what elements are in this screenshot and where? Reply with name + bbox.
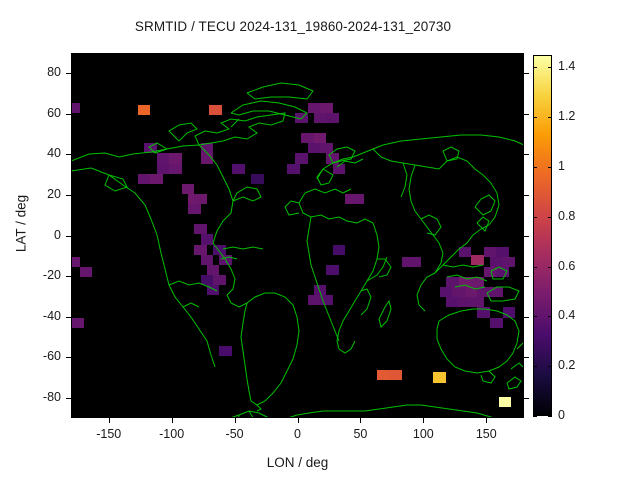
y-tick-label: -80	[17, 390, 61, 404]
x-tick-mark	[486, 53, 487, 58]
y-tick-mark	[66, 276, 71, 277]
y-tick-label: 80	[17, 65, 61, 79]
coastline-overlay	[71, 53, 524, 418]
colorbar-tick-label: 0.8	[558, 209, 575, 223]
y-tick-mark	[524, 73, 529, 74]
x-tick-mark	[109, 418, 110, 423]
colorbar-tick-mark	[533, 117, 537, 118]
y-tick-mark	[66, 236, 71, 237]
y-tick-mark	[66, 154, 71, 155]
y-tick-mark	[524, 114, 529, 115]
map-plot-area[interactable]	[71, 53, 524, 418]
y-tick-mark	[66, 114, 71, 115]
x-tick-mark	[172, 53, 173, 58]
colorbar-tick-label: 0.4	[558, 308, 575, 322]
x-tick-mark	[235, 418, 236, 423]
x-tick-mark	[423, 53, 424, 58]
x-tick-mark	[360, 418, 361, 423]
colorbar-tick-label: 0	[558, 408, 565, 422]
colorbar[interactable]	[533, 55, 552, 416]
colorbar-tick-mark	[548, 316, 552, 317]
figure-canvas: SRMTID / TECU 2024-131_19860-2024-131_20…	[0, 0, 640, 480]
colorbar-tick-mark	[548, 267, 552, 268]
x-tick-mark	[360, 53, 361, 58]
y-tick-mark	[524, 398, 529, 399]
x-tick-label: -100	[142, 427, 202, 441]
colorbar-tick-mark	[548, 416, 552, 417]
colorbar-tick-label: 1	[558, 159, 565, 173]
colorbar-tick-mark	[548, 67, 552, 68]
colorbar-tick-mark	[548, 167, 552, 168]
x-tick-mark	[172, 418, 173, 423]
y-tick-mark	[66, 398, 71, 399]
y-tick-mark	[66, 357, 71, 358]
x-tick-label: 50	[330, 427, 390, 441]
x-tick-mark	[109, 53, 110, 58]
y-tick-mark	[66, 317, 71, 318]
colorbar-tick-mark	[533, 67, 537, 68]
y-tick-mark	[524, 236, 529, 237]
x-tick-label: -150	[79, 427, 139, 441]
y-tick-mark	[524, 357, 529, 358]
y-tick-mark	[66, 195, 71, 196]
colorbar-tick-label: 0.6	[558, 259, 575, 273]
colorbar-tick-label: 0.2	[558, 358, 575, 372]
x-tick-mark	[298, 418, 299, 423]
colorbar-tick-mark	[533, 217, 537, 218]
colorbar-gradient	[534, 56, 551, 415]
y-tick-mark	[524, 317, 529, 318]
colorbar-tick-mark	[533, 316, 537, 317]
x-axis-title: LON / deg	[71, 455, 524, 470]
x-tick-label: 150	[456, 427, 516, 441]
colorbar-tick-mark	[533, 416, 537, 417]
x-tick-mark	[298, 53, 299, 58]
x-tick-label: -50	[205, 427, 265, 441]
x-tick-label: 100	[393, 427, 453, 441]
y-tick-mark	[66, 73, 71, 74]
y-tick-label: -40	[17, 309, 61, 323]
colorbar-tick-mark	[548, 217, 552, 218]
y-tick-label: -20	[17, 268, 61, 282]
x-tick-mark	[235, 53, 236, 58]
chart-title: SRMTID / TECU 2024-131_19860-2024-131_20…	[0, 19, 586, 34]
colorbar-tick-label: 1.4	[558, 59, 575, 73]
x-tick-mark	[423, 418, 424, 423]
colorbar-tick-mark	[533, 366, 537, 367]
y-tick-mark	[524, 154, 529, 155]
y-tick-label: 40	[17, 146, 61, 160]
y-tick-mark	[524, 276, 529, 277]
y-axis-title: LAT / deg	[14, 164, 29, 284]
colorbar-tick-mark	[533, 267, 537, 268]
colorbar-tick-mark	[533, 167, 537, 168]
colorbar-tick-mark	[548, 117, 552, 118]
y-tick-mark	[524, 195, 529, 196]
y-tick-label: 20	[17, 187, 61, 201]
x-tick-mark	[486, 418, 487, 423]
x-tick-label: 0	[268, 427, 328, 441]
colorbar-tick-label: 1.2	[558, 109, 575, 123]
y-tick-label: -60	[17, 349, 61, 363]
y-tick-label: 60	[17, 106, 61, 120]
colorbar-tick-mark	[548, 366, 552, 367]
y-tick-label: 0	[17, 228, 61, 242]
